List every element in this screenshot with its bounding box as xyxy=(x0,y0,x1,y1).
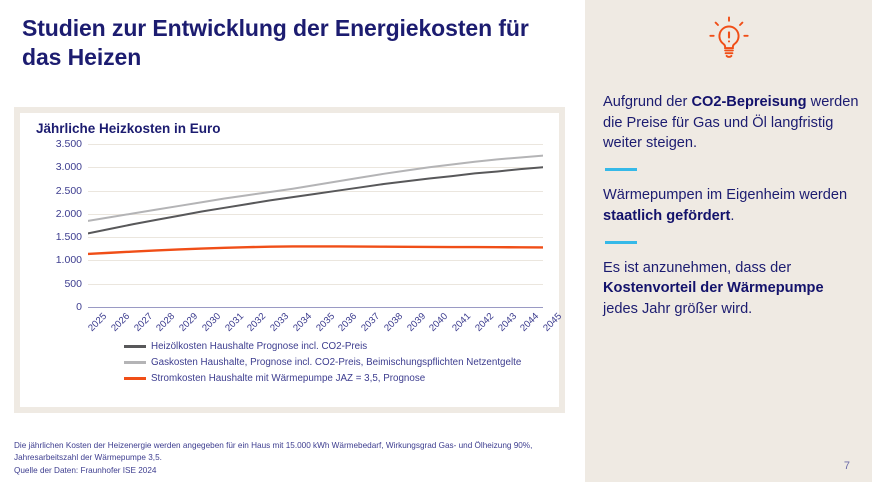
sidebar-text-run-1-2: CO2-Bepreisung xyxy=(691,94,806,110)
sidebar-text-run-3-3: jedes Jahr größer wird. xyxy=(603,301,752,317)
x-tick-label: 2027 xyxy=(132,311,155,334)
legend-item: Gaskosten Haushalte, Prognose incl. CO2-… xyxy=(124,354,544,370)
x-tick-label: 2038 xyxy=(382,311,405,334)
footnote-line-3: Quelle der Daten: Fraunhofer ISE 2024 xyxy=(14,465,574,477)
y-tick-label: 3.500 xyxy=(34,138,82,150)
legend-color-swatch xyxy=(124,345,146,348)
legend-label: Stromkosten Haushalte mit Wärmepumpe JAZ… xyxy=(151,373,425,384)
x-tick-label: 2035 xyxy=(314,311,337,334)
divider-2 xyxy=(605,241,637,244)
sidebar-text-run-3-1: Es ist anzunehmen, dass der xyxy=(603,260,791,276)
page-number: 7 xyxy=(844,460,850,472)
legend-item: Stromkosten Haushalte mit Wärmepumpe JAZ… xyxy=(124,370,544,386)
divider-1 xyxy=(605,168,637,171)
x-tick-label: 2045 xyxy=(541,311,564,334)
x-tick-label: 2042 xyxy=(473,311,496,334)
y-tick-label: 2.500 xyxy=(34,185,82,197)
x-tick-label: 2040 xyxy=(428,311,451,334)
sidebar-paragraph-2: Wärmepumpen im Eigenheim werden staatlic… xyxy=(603,185,861,226)
x-tick-label: 2039 xyxy=(405,311,428,334)
x-tick-label: 2033 xyxy=(268,311,291,334)
x-tick-label: 2041 xyxy=(450,311,473,334)
x-tick-label: 2037 xyxy=(359,311,382,334)
x-tick-label: 2030 xyxy=(200,311,223,334)
sidebar-text-block: Aufgrund der CO2-Bepreisung werden die P… xyxy=(603,92,861,320)
chart-line-series xyxy=(88,167,543,233)
sidebar-text-run-2-3: . xyxy=(730,208,734,224)
sidebar-text-run-2-2: staatlich gefördert xyxy=(603,208,730,224)
y-tick-label: 3.000 xyxy=(34,161,82,173)
sidebar-text-run-2-1: Wärmepumpen im Eigenheim werden xyxy=(603,187,847,203)
sidebar-text-run-3-2: Kostenvorteil der Wärmepumpe xyxy=(603,280,824,296)
chart-line-series xyxy=(88,156,543,221)
x-tick-label: 2043 xyxy=(496,311,519,334)
chart-line-series xyxy=(88,246,543,253)
legend-label: Gaskosten Haushalte, Prognose incl. CO2-… xyxy=(151,357,521,368)
page-title: Studien zur Entwicklung der Energiekoste… xyxy=(22,14,562,73)
legend-color-swatch xyxy=(124,377,146,380)
legend-item: Heizölkosten Haushalte Prognose incl. CO… xyxy=(124,338,544,354)
y-tick-label: 2.000 xyxy=(34,208,82,220)
sidebar-panel: Aufgrund der CO2-Bepreisung werden die P… xyxy=(585,0,872,482)
sidebar-text-run-1-1: Aufgrund der xyxy=(603,94,691,110)
footnote-line-1: Die jährlichen Kosten der Heizenergie we… xyxy=(14,440,574,452)
footnote: Die jährlichen Kosten der Heizenergie we… xyxy=(14,440,574,477)
chart-card: Jährliche Heizkosten in Euro 3.5003.0002… xyxy=(14,107,565,413)
legend-color-swatch xyxy=(124,361,146,364)
x-tick-label: 2025 xyxy=(86,311,109,334)
x-tick-label: 2026 xyxy=(109,311,132,334)
y-tick-label: 1.500 xyxy=(34,231,82,243)
y-tick-label: 1.000 xyxy=(34,254,82,266)
plot-canvas xyxy=(88,144,543,307)
x-tick-label: 2036 xyxy=(337,311,360,334)
sidebar-paragraph-3: Es ist anzunehmen, dass der Kostenvortei… xyxy=(603,258,861,320)
legend-label: Heizölkosten Haushalte Prognose incl. CO… xyxy=(151,341,367,352)
x-tick-label: 2031 xyxy=(223,311,246,334)
x-tick-label: 2044 xyxy=(519,311,542,334)
x-tick-label: 2034 xyxy=(291,311,314,334)
y-tick-label: 500 xyxy=(34,278,82,290)
slide-root: Studien zur Entwicklung der Energiekoste… xyxy=(0,0,872,482)
chart-title: Jährliche Heizkosten in Euro xyxy=(36,121,221,136)
sidebar-paragraph-1: Aufgrund der CO2-Bepreisung werden die P… xyxy=(603,92,861,154)
x-tick-label: 2028 xyxy=(155,311,178,334)
chart-legend: Heizölkosten Haushalte Prognose incl. CO… xyxy=(124,338,544,386)
footnote-line-2: Jahresarbeitszahl der Wärmepumpe 3,5. xyxy=(14,452,574,464)
chart-series-lines xyxy=(88,144,543,307)
y-tick-label: 0 xyxy=(34,301,82,313)
x-tick-label: 2029 xyxy=(177,311,200,334)
lightbulb-idea-icon xyxy=(701,10,757,62)
x-tick-label: 2032 xyxy=(246,311,269,334)
y-axis-labels: 3.5003.0002.5002.0001.5001.0005000 xyxy=(34,144,82,307)
